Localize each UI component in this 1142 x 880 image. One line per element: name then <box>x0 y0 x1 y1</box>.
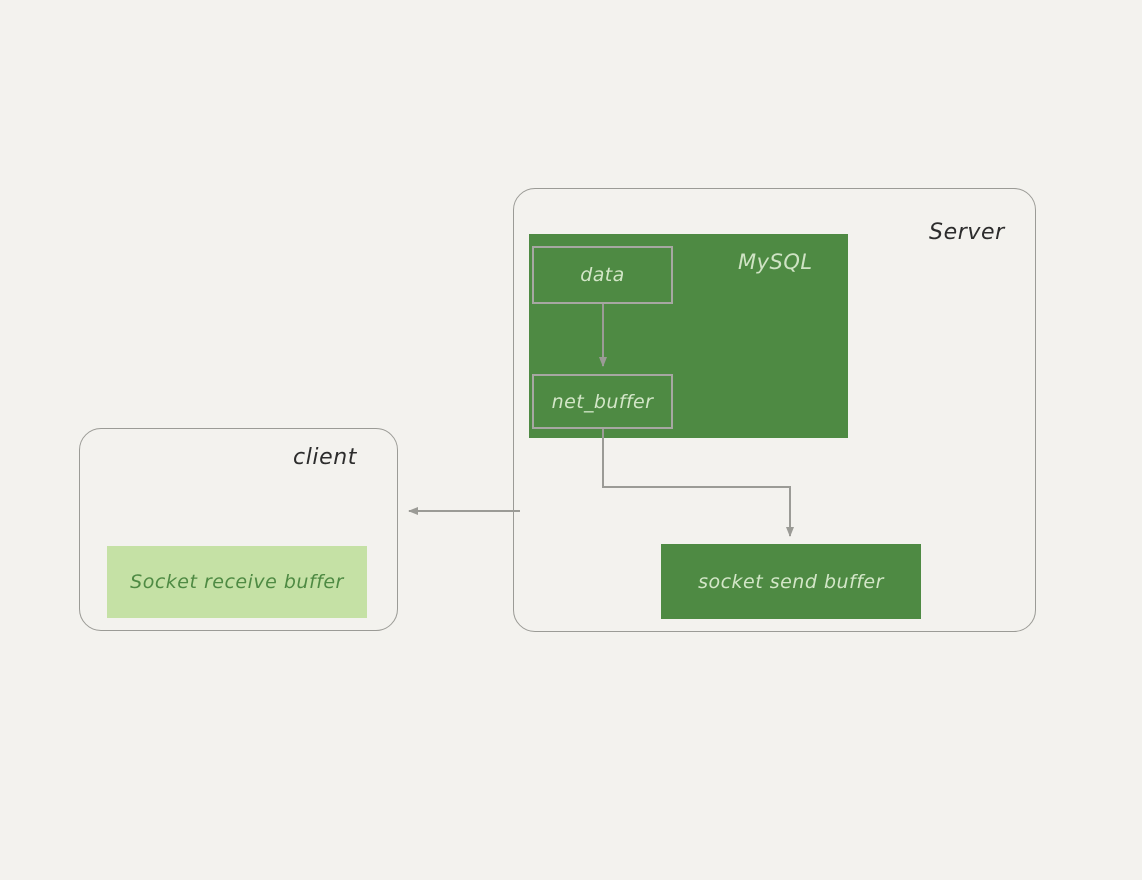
net-buffer-box[interactable]: net_buffer <box>532 374 673 429</box>
data-box[interactable]: data <box>532 246 673 304</box>
socket-receive-buffer-label: Socket receive buffer <box>130 571 344 593</box>
server-container-title: Server <box>929 220 1005 245</box>
net-buffer-box-label: net_buffer <box>552 391 654 413</box>
client-container-title: client <box>293 445 357 470</box>
socket-receive-buffer-box[interactable]: Socket receive buffer <box>107 546 367 618</box>
socket-send-buffer-label: socket send buffer <box>698 571 884 593</box>
data-box-label: data <box>580 264 624 286</box>
mysql-label: MySQL <box>738 250 813 274</box>
socket-send-buffer-box[interactable]: socket send buffer <box>661 544 921 619</box>
diagram-canvas: Server MySQL data net_buffer socket send… <box>0 0 1142 880</box>
